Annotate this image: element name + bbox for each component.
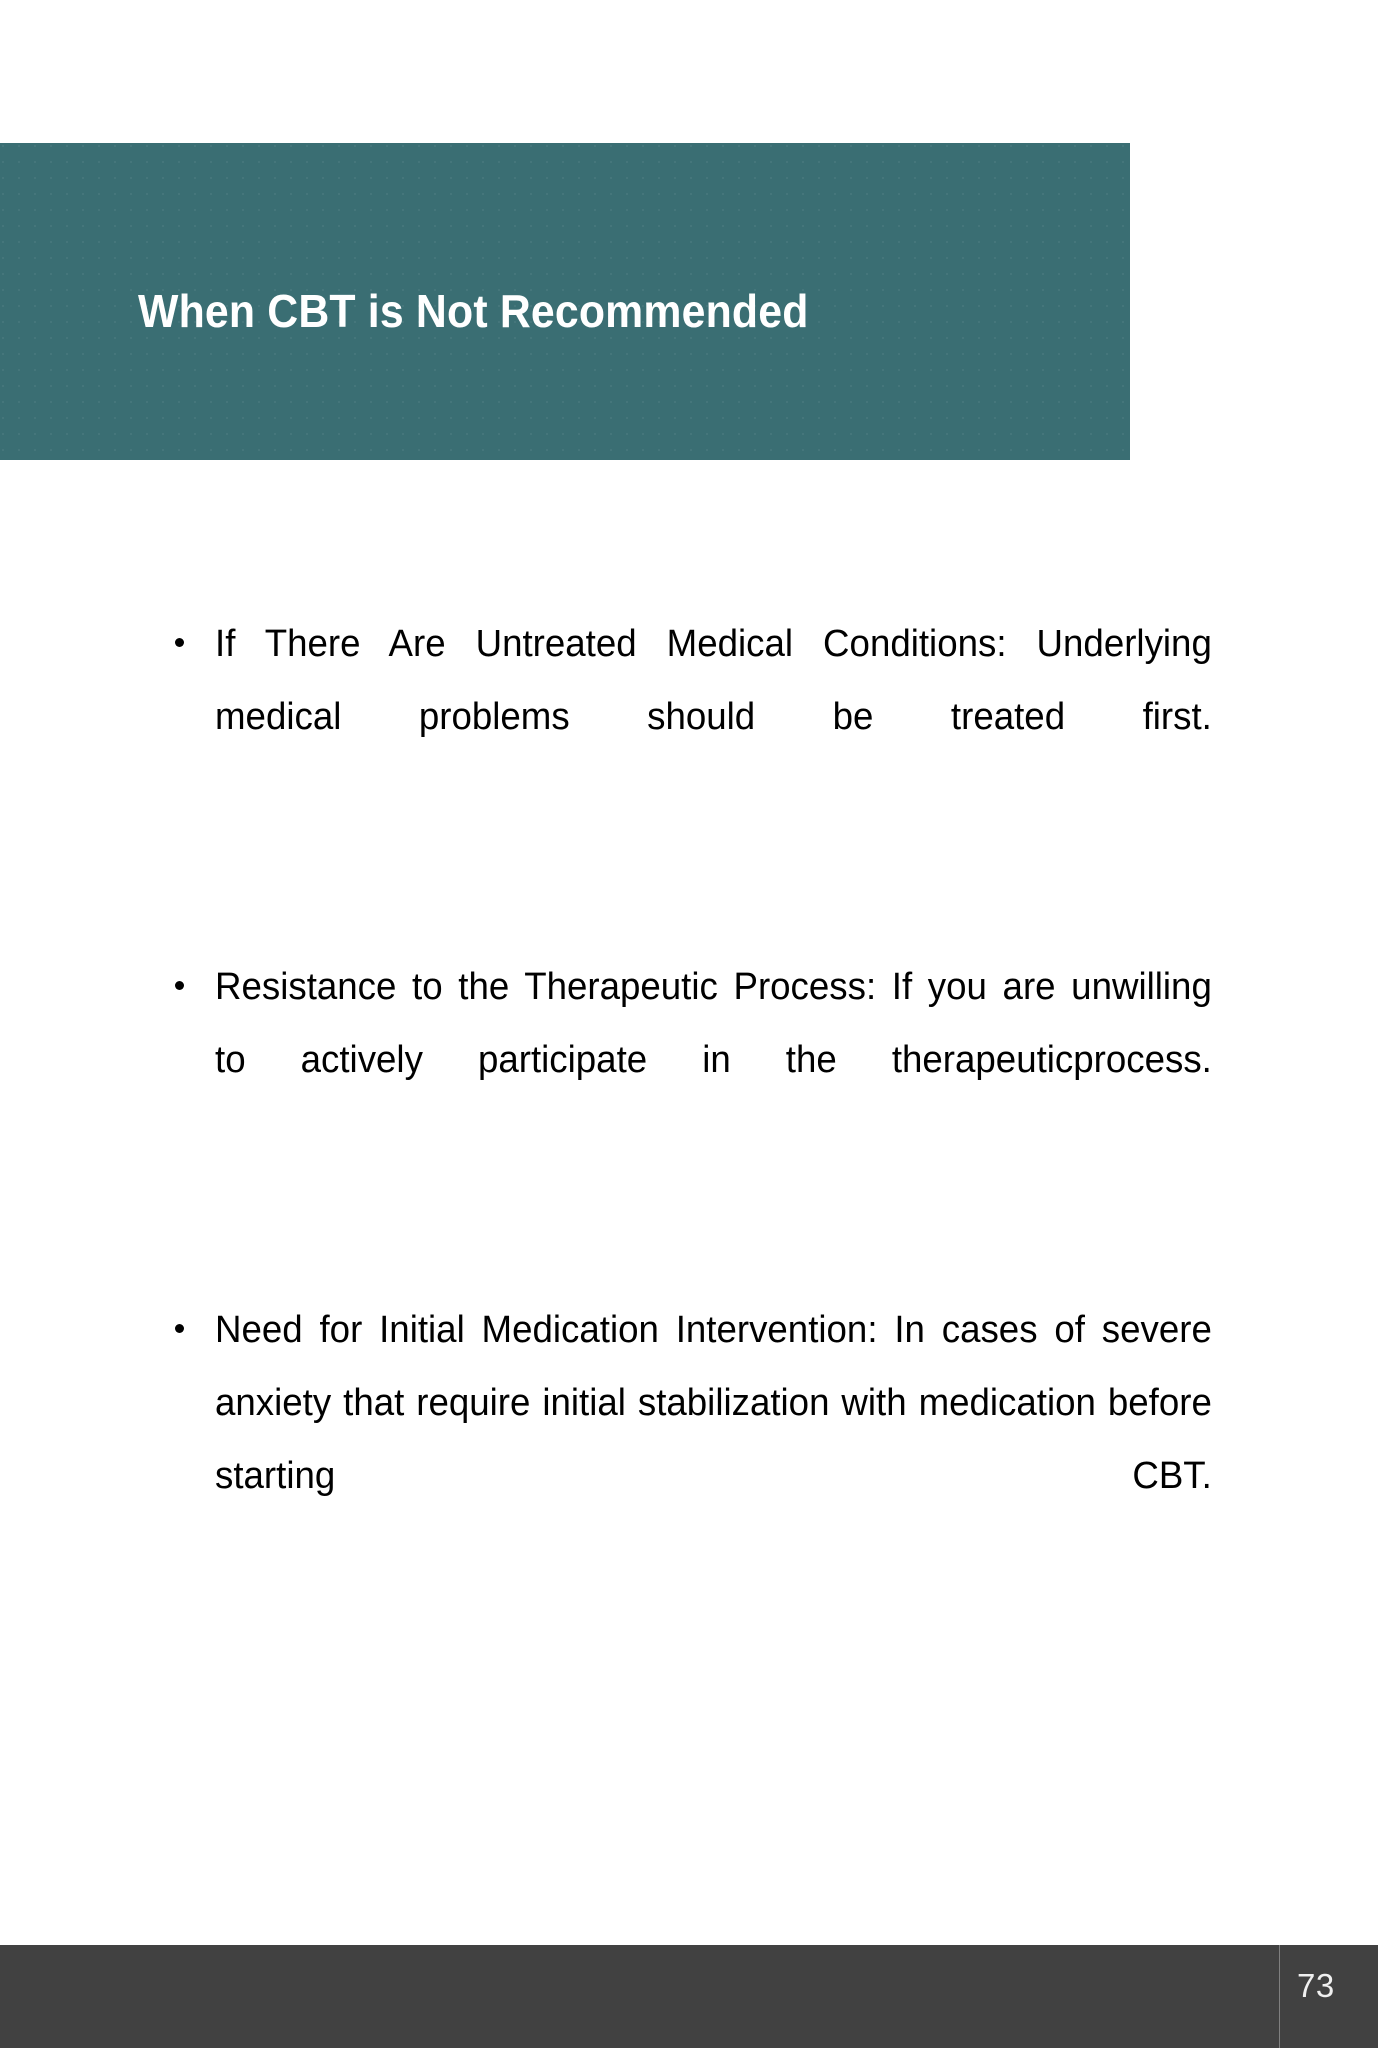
bullet-dot-icon	[175, 1324, 184, 1333]
list-item: Resistance to the Therapeutic Process: I…	[170, 951, 1248, 1170]
bullet-dot-icon	[175, 638, 184, 647]
list-item: Need for Initial Medication Intervention…	[170, 1294, 1248, 1586]
bullet-text: If There Are Untreated Medical Condition…	[215, 608, 1212, 827]
slide: When CBT is Not Recommended If There Are…	[0, 0, 1378, 2048]
bullet-text: Need for Initial Medication Intervention…	[215, 1294, 1212, 1586]
footer-divider	[1279, 1945, 1280, 2048]
footer-bar: 73	[0, 1945, 1378, 2048]
bullet-dot-icon	[175, 981, 184, 990]
page-title: When CBT is Not Recommended	[138, 283, 1031, 339]
list-item: If There Are Untreated Medical Condition…	[170, 608, 1248, 827]
page-number: 73	[1297, 1967, 1335, 2005]
bullet-text: Resistance to the Therapeutic Process: I…	[215, 951, 1212, 1170]
bullet-list: If There Are Untreated Medical Condition…	[170, 608, 1248, 1586]
